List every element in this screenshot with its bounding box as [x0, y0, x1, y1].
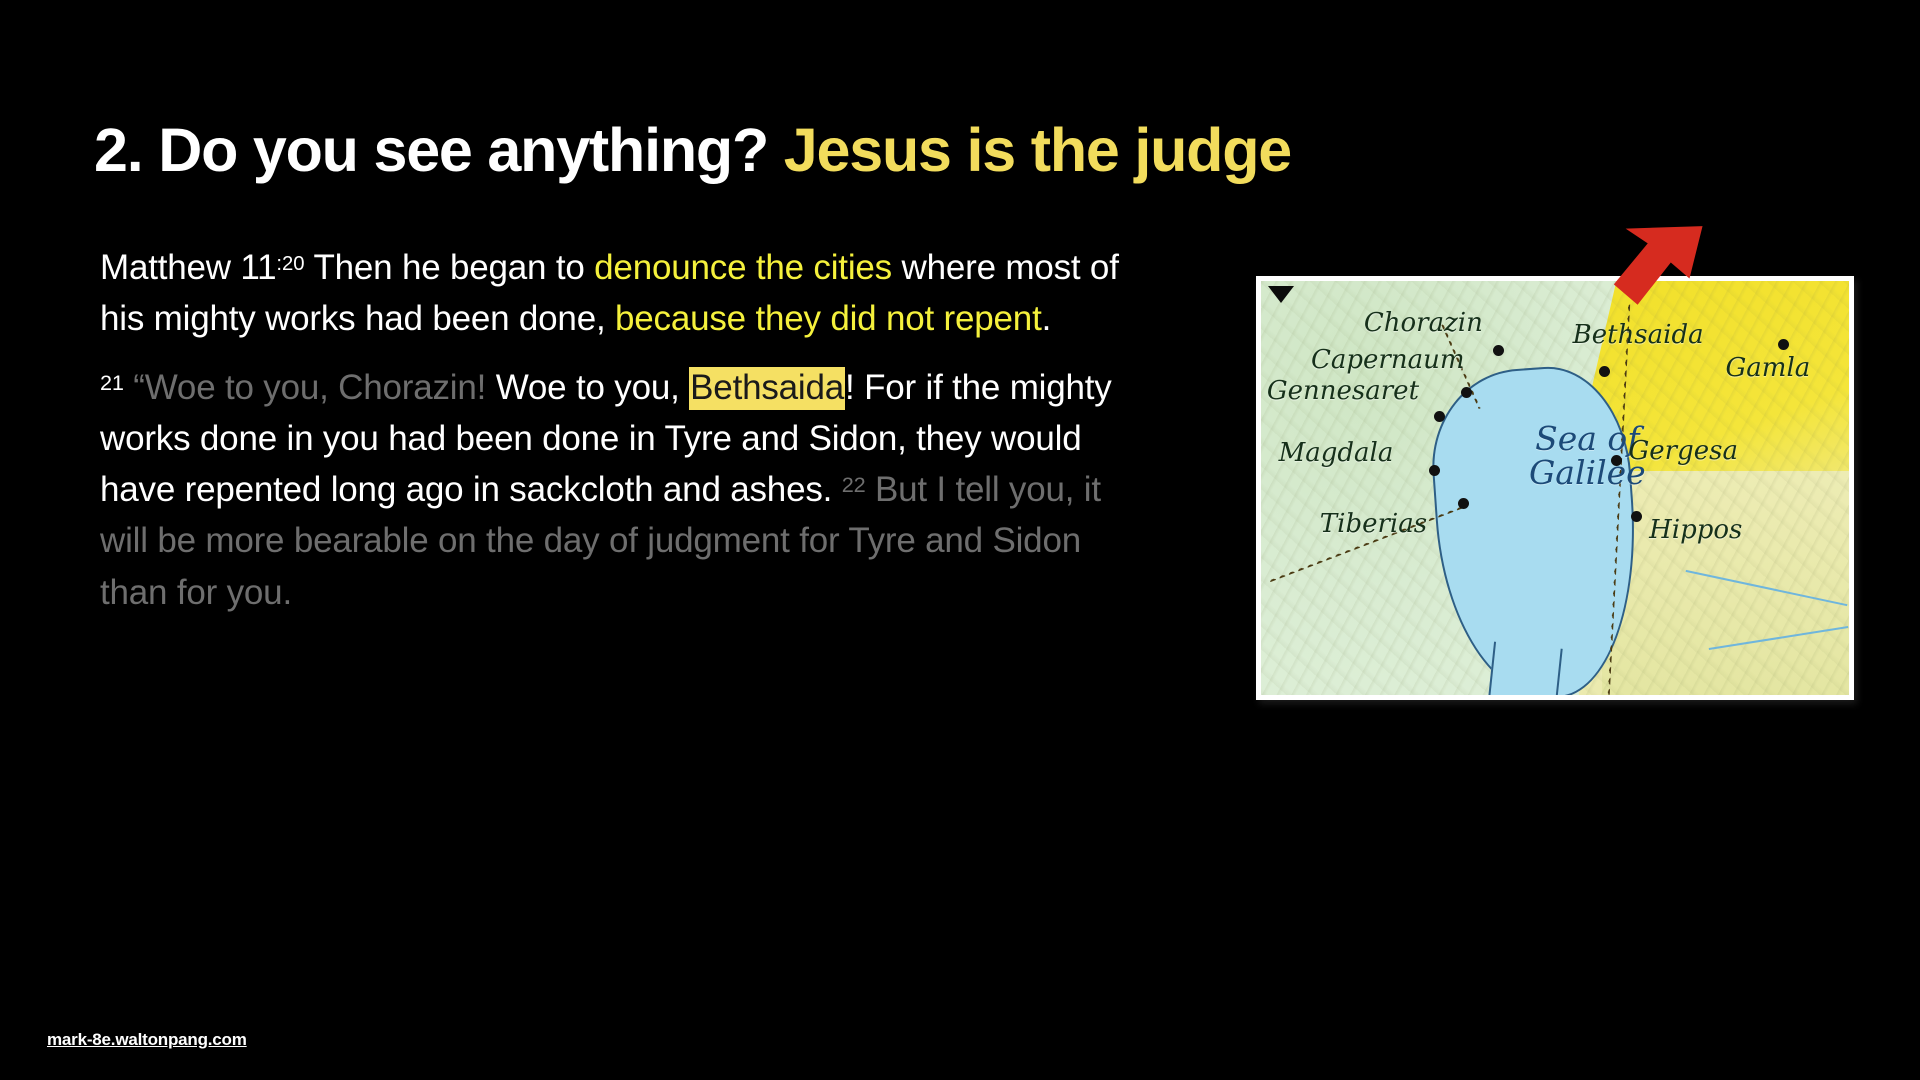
verse20-segment-3-highlight: because they did not repent: [615, 299, 1042, 338]
map-label-hippos: Hippos: [1649, 515, 1742, 545]
slide-title-answer: Jesus is the judge: [784, 116, 1291, 184]
red-arrow-pointer-icon: [1596, 212, 1716, 332]
map-label-gergesa: Gergesa: [1629, 436, 1738, 466]
verse20-segment-4: .: [1042, 299, 1052, 338]
map-canvas: Sea of Galilee ChorazinBethsaidaGamlaCap…: [1261, 281, 1849, 695]
verse21-segment-1: Woe to you,: [486, 368, 689, 407]
scripture-paragraph-verse-20: Matthew 11:20 Then he began to denounce …: [100, 242, 1125, 344]
verse21-segment-chorazin: [124, 368, 134, 407]
map-label-chorazin: Chorazin: [1364, 308, 1483, 338]
bethsaida-highlight: Bethsaida: [689, 367, 845, 410]
map-dot-bethsaida: [1599, 366, 1610, 377]
map-label-capernaum: Capernaum: [1311, 345, 1465, 375]
galilee-map-image: Sea of Galilee ChorazinBethsaidaGamlaCap…: [1256, 276, 1854, 700]
map-corner-marker: [1268, 286, 1294, 303]
slide-title-question: 2. Do you see anything?: [94, 116, 768, 184]
map-white-frame: Sea of Galilee ChorazinBethsaidaGamlaCap…: [1256, 276, 1854, 700]
map-dot-capernaum: [1461, 387, 1472, 398]
scripture-reference: Matthew 11: [100, 248, 276, 287]
map-dot-magdala: [1429, 465, 1440, 476]
map-label-magdala: Magdala: [1279, 438, 1394, 468]
map-dot-gergesa: [1611, 455, 1622, 466]
map-label-tiberias: Tiberias: [1320, 509, 1427, 539]
presentation-slide: 2. Do you see anything? Jesus is the jud…: [0, 0, 1920, 1080]
verse-number-21: 21: [100, 370, 124, 395]
map-label-gennesaret: Gennesaret: [1267, 376, 1419, 406]
verse-number-22: 22: [842, 472, 866, 497]
map-label-gamla: Gamla: [1726, 353, 1811, 383]
verse-marker-20: :20: [276, 253, 304, 275]
slide-title: 2. Do you see anything? Jesus is the jud…: [94, 115, 1291, 185]
footer-url-link[interactable]: mark-8e.waltonpang.com: [47, 1030, 247, 1050]
verse20-segment-1-highlight: denounce the cities: [594, 248, 892, 287]
jordan-river-outflow: [1487, 642, 1563, 695]
scripture-text-column: Matthew 11:20 Then he began to denounce …: [100, 242, 1125, 636]
scripture-paragraph-verse-21-22: 21 “Woe to you, Chorazin! Woe to you, Be…: [100, 362, 1125, 617]
verse21-segment-0: “Woe to you, Chorazin!: [133, 368, 486, 407]
verse20-segment-0: Then he began to: [305, 248, 595, 287]
